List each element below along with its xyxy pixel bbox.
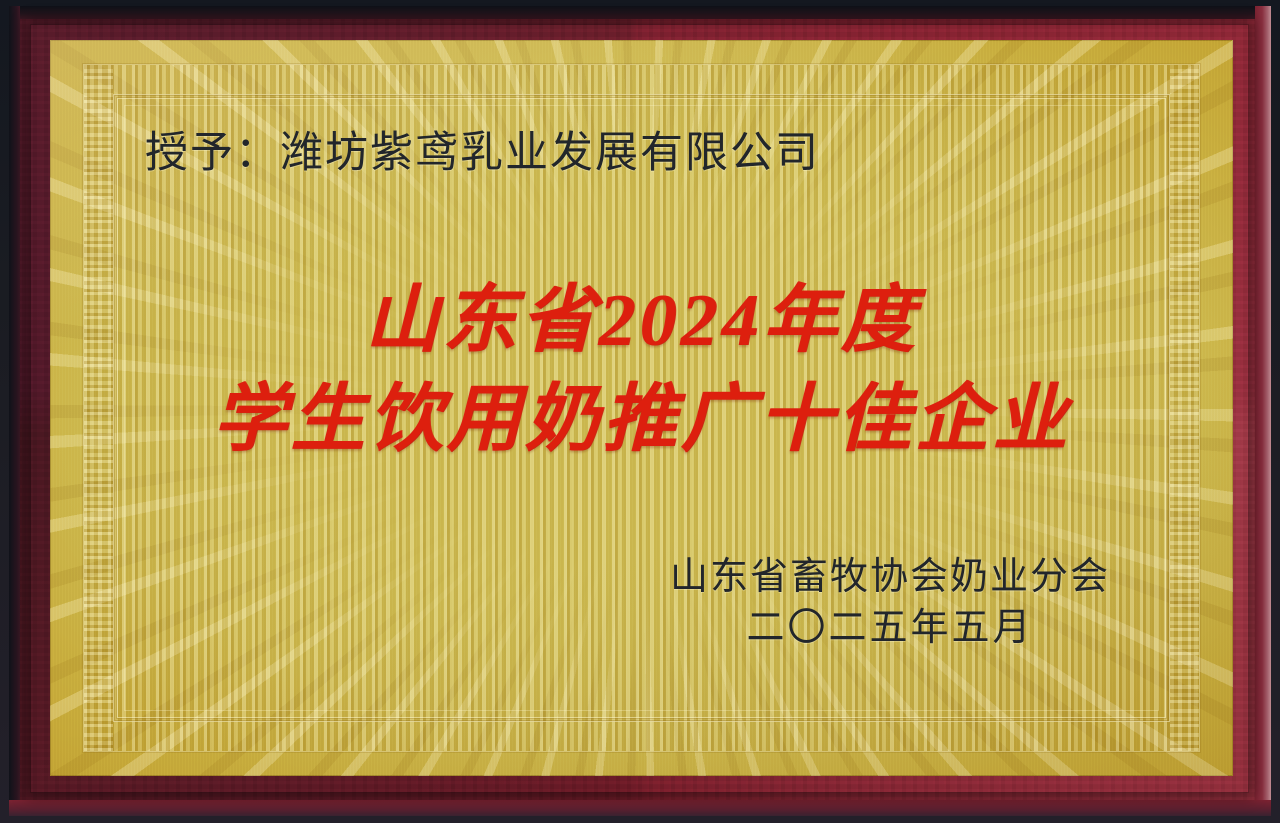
issuer-organization: 山东省畜牧协会奶业分会 [670, 553, 1110, 602]
recipient-line: 授予：潍坊紫鸢乳业发展有限公司 [145, 128, 820, 179]
frame-lip-left [9, 6, 20, 816]
award-title-line-1: 山东省2024年度 [50, 272, 1233, 371]
frame-lip-top [9, 6, 1271, 19]
award-title-line-2: 学生饮用奶推广十佳企业 [50, 371, 1233, 470]
issuer-date: 二〇二五年五月 [670, 603, 1110, 654]
gold-plate: 授予：潍坊紫鸢乳业发展有限公司 山东省2024年度 学生饮用奶推广十佳企业 山东… [50, 40, 1233, 776]
frame-lip-bottom [9, 800, 1271, 816]
award-title-block: 山东省2024年度 学生饮用奶推广十佳企业 [50, 272, 1233, 470]
award-plaque: 授予：潍坊紫鸢乳业发展有限公司 山东省2024年度 学生饮用奶推广十佳企业 山东… [0, 0, 1280, 823]
issuer-signature-block: 山东省畜牧协会奶业分会 二〇二五年五月 [670, 553, 1110, 654]
plaque-content: 授予：潍坊紫鸢乳业发展有限公司 山东省2024年度 学生饮用奶推广十佳企业 山东… [50, 40, 1233, 776]
frame-lip-right [1255, 6, 1271, 816]
